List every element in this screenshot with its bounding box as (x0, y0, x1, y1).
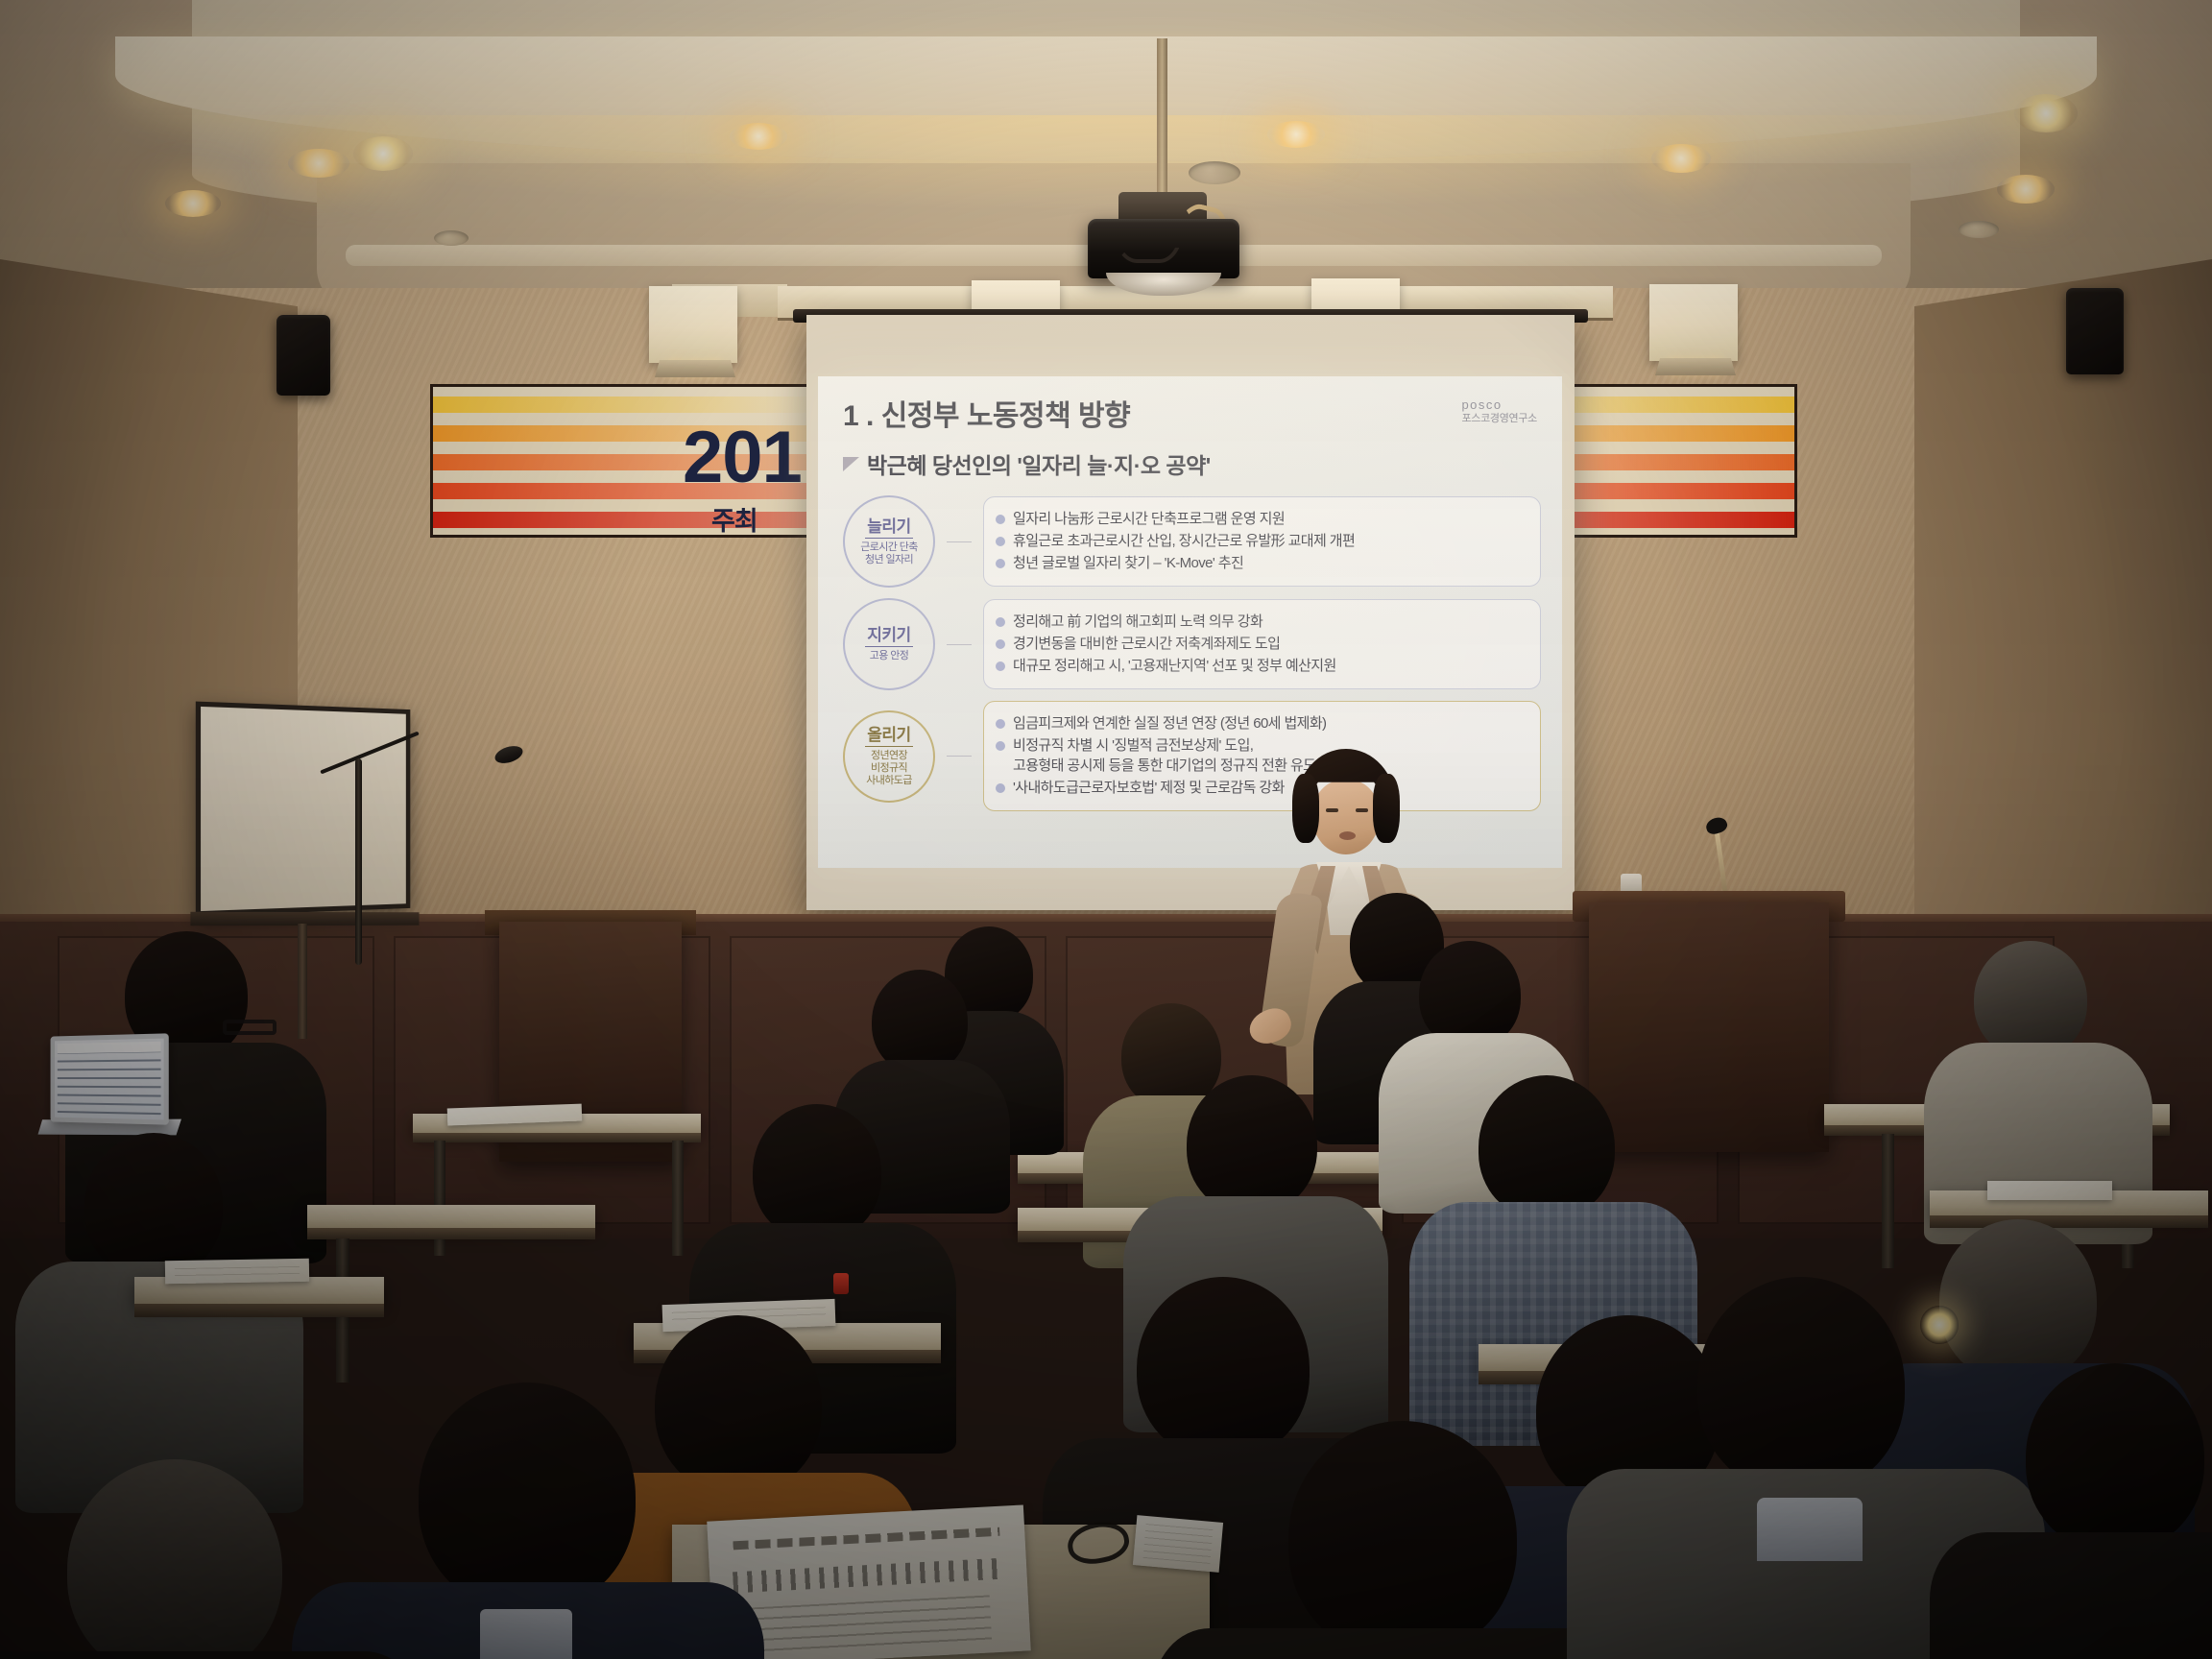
bullet-item: 청년 글로벌 일자리 찾기 – 'K-Move' 추진 (996, 554, 1528, 573)
ceiling-downlight-icon (353, 136, 413, 171)
bullet-dot-icon (996, 559, 1005, 568)
laptop-screen[interactable] (51, 1033, 169, 1124)
bullet-item: 임금피크제와 연계한 실질 정년 연장 (정년 60세 법제화) (996, 714, 1528, 733)
block-circle-label: 늘리기 근로시간 단축 청년 일자리 (843, 495, 935, 588)
circle-title: 늘리기 (865, 517, 912, 539)
bullet-dot-icon (996, 661, 1005, 671)
whiteboard (196, 702, 411, 917)
connector-line (947, 541, 972, 542)
head (1479, 1075, 1615, 1219)
bulb-icon (1688, 363, 1702, 372)
audience-member-foreground (336, 1382, 720, 1659)
bullet-text: 일자리 나눔形 근로시간 단축프로그램 운영 지원 (1013, 510, 1285, 529)
projector-mount-pole (1157, 38, 1167, 206)
bullet-item: 경기변동을 대비한 근로시간 저축계좌제도 도입 (996, 635, 1528, 654)
block-circle-label: 올리기 정년연장 비정규직 사내하도급 (843, 710, 935, 803)
bulb-icon (707, 365, 721, 373)
circle-sub: 근로시간 단축 (860, 541, 918, 554)
lens-flare (1920, 1306, 1959, 1344)
head (2026, 1363, 2204, 1551)
head (872, 970, 968, 1073)
head (67, 1459, 282, 1659)
sconce-bulbs (1663, 361, 1726, 373)
bullet-item: 일자리 나눔形 근로시간 단축프로그램 운영 지원 (996, 510, 1528, 529)
handout-paper (165, 1259, 309, 1285)
audience-member-foreground (0, 1459, 365, 1659)
circle-sub: 고용 안정 (870, 650, 909, 662)
bullet-dot-icon (996, 617, 1005, 627)
head (1187, 1075, 1317, 1214)
posco-logo: posco 포스코경영연구소 (1461, 397, 1537, 426)
circle-title: 지키기 (865, 626, 912, 647)
eyeglasses-icon (223, 1020, 276, 1035)
bulb-icon (1669, 363, 1683, 372)
ceiling-vent-icon (434, 230, 469, 246)
bulb-icon (1707, 363, 1721, 372)
bullet-item: 대규모 정리해고 시, '고용재난지역' 선포 및 정부 예산지원 (996, 657, 1528, 676)
seminar-room-photo: 201 주최 크숍 경주 (0, 0, 2212, 1659)
banner-left-title: 201 (683, 416, 802, 499)
cove-lamp-icon (1997, 175, 2055, 204)
head (1697, 1277, 1905, 1494)
shirt-collar (480, 1609, 572, 1659)
flag-marker-icon (843, 457, 859, 471)
sconce-bulbs (662, 363, 726, 374)
audience-member-foreground (1200, 1421, 1603, 1659)
bullet-text: 정리해고 前 기업의 해고회피 노력 의무 강화 (1013, 613, 1262, 632)
cove-lamp-icon (288, 149, 349, 178)
bullet-dot-icon (996, 515, 1005, 524)
bullet-text: 임금피크제와 연계한 실질 정년 연장 (정년 60세 법제화) (1013, 714, 1326, 733)
block-bullets: 일자리 나눔形 근로시간 단축프로그램 운영 지원 휴일근로 초과근로시간 산입… (983, 496, 1541, 588)
desk-edge (134, 1304, 384, 1317)
cove-lamp-icon (1651, 144, 1711, 173)
laptop-screen-content (58, 1042, 161, 1117)
bullet-item: 휴일근로 초과근로시간 산입, 장시간근로 유발形 교대제 개편 (996, 532, 1528, 551)
connector-line (947, 644, 972, 645)
ceiling-smoke-detector-icon (1189, 161, 1240, 184)
bullet-text: 경기변동을 대비한 근로시간 저축계좌제도 도입 (1013, 635, 1280, 654)
head (84, 1133, 223, 1279)
head (419, 1382, 636, 1611)
handout-body-lines (736, 1595, 992, 1656)
desk-edge (413, 1133, 701, 1142)
bulb-icon (687, 365, 702, 373)
shirt-collar (1757, 1498, 1863, 1561)
wall-speaker-right (2066, 288, 2124, 374)
slide-subtitle-row: 박근혜 당선인의 '일자리 늘·지·오 공약' (843, 447, 1541, 480)
cove-lamp-icon (730, 123, 787, 150)
handout-chart-row (733, 1558, 998, 1593)
bullet-text: 휴일근로 초과근로시간 산입, 장시간근로 유발形 교대제 개편 (1013, 532, 1355, 551)
bulb-icon (668, 365, 683, 373)
wall-sconce-1 (649, 286, 737, 363)
slide-title: 1 . 신정부 노동정책 방향 (843, 392, 1541, 434)
desk-row-mid-left (307, 1205, 595, 1230)
slide-subtitle: 박근혜 당선인의 '일자리 늘·지·오 공약' (867, 447, 1211, 480)
jacket-logo-icon (833, 1273, 849, 1294)
connector-line (947, 756, 972, 757)
paper-lines (175, 1266, 300, 1276)
block-circle-label: 지키기 고용 안정 (843, 598, 935, 690)
bullet-dot-icon (996, 741, 1005, 751)
circle-sub: 사내하도급 (866, 775, 912, 787)
bullet-dot-icon (996, 537, 1005, 546)
slide-block: 지키기 고용 안정 정리해고 前 기업의 해고회피 노력 의무 강화 경기변동을… (843, 598, 1541, 690)
wall-speaker-left (276, 315, 330, 396)
circle-sub: 청년 일자리 (865, 554, 913, 566)
block-bullets: 정리해고 前 기업의 해고회피 노력 의무 강화 경기변동을 대비한 근로시간 … (983, 599, 1541, 690)
microphone-stand (355, 758, 362, 965)
slide-block: 늘리기 근로시간 단축 청년 일자리 일자리 나눔形 근로시간 단축프로그램 운… (843, 495, 1541, 588)
circle-title: 올리기 (865, 726, 912, 747)
wall-sconce-4 (1649, 284, 1738, 361)
presenter-hair (1296, 749, 1396, 860)
cove-lamp-icon (1267, 121, 1325, 148)
desk-leg (672, 1141, 684, 1256)
circle-sub: 정년연장 (871, 750, 907, 762)
circle-sub: 비정규직 (871, 762, 907, 775)
posco-logo-text: posco (1461, 397, 1537, 413)
head (1974, 941, 2087, 1058)
ceiling-vent-icon (1959, 221, 1999, 238)
audience-member-foreground (1968, 1363, 2212, 1659)
bullet-dot-icon (996, 783, 1005, 793)
ceiling-downlight-icon (2014, 94, 2078, 132)
torso (0, 1651, 422, 1659)
bullet-dot-icon (996, 719, 1005, 729)
bullet-dot-icon (996, 639, 1005, 649)
cove-lamp-icon (165, 190, 221, 217)
banner-left-subtitle: 주최 (711, 500, 757, 538)
head (753, 1104, 881, 1240)
torso (1930, 1532, 2212, 1659)
bullet-text: 청년 글로벌 일자리 찾기 – 'K-Move' 추진 (1013, 554, 1243, 573)
bullet-item: 정리해고 前 기업의 해고회피 노력 의무 강화 (996, 613, 1528, 632)
posco-institute-text: 포스코경영연구소 (1461, 413, 1537, 426)
bullet-text: 대규모 정리해고 시, '고용재난지역' 선포 및 정부 예산지원 (1013, 657, 1336, 676)
head (1288, 1421, 1517, 1657)
handout-heading-line (733, 1527, 999, 1551)
handout-paper (1987, 1181, 2112, 1200)
desk-edge (307, 1228, 595, 1239)
